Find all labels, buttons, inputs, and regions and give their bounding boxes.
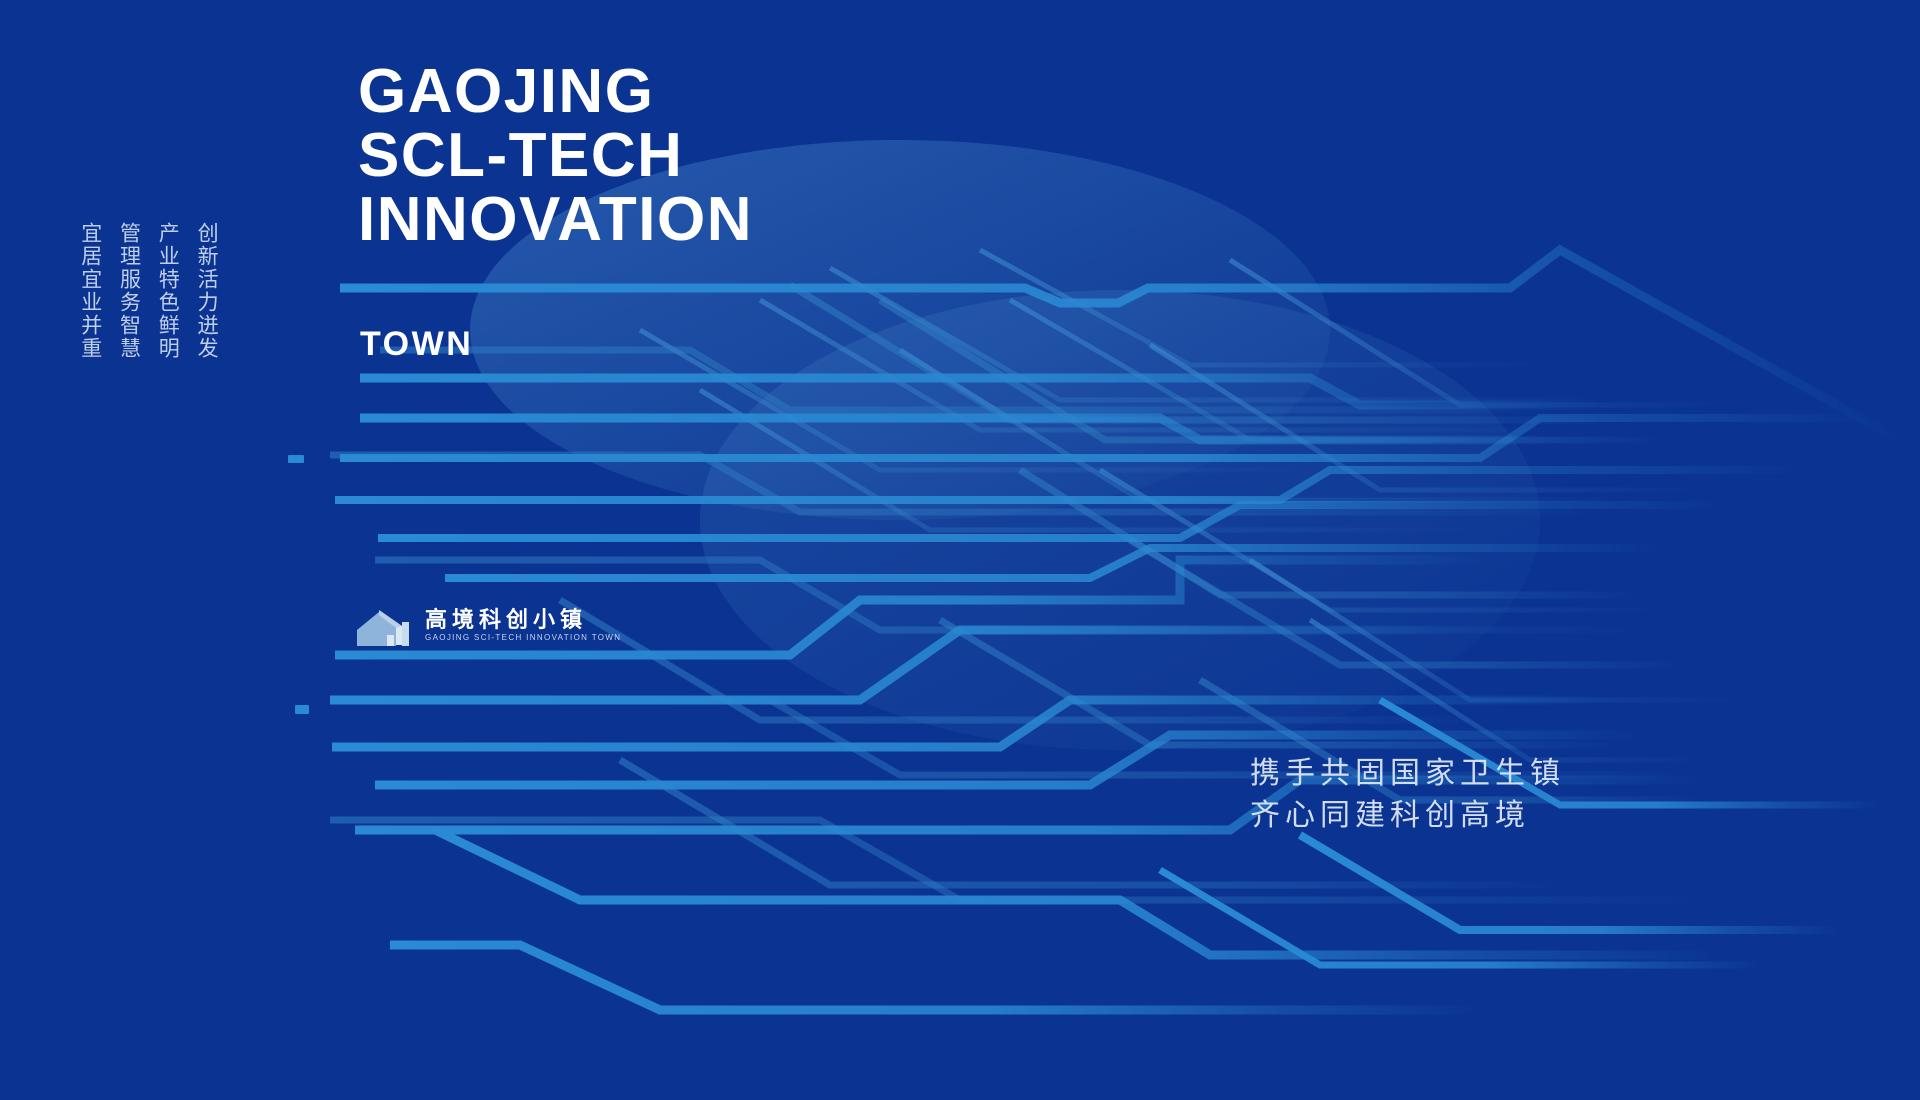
headline-line-3: INNOVATION [358,188,753,252]
vertical-slogan-column-4: 宜居宜业并重 [78,222,103,360]
logo-text-block: 高境科创小镇 GAOJING SCI-TECH INNOVATION TOWN [425,610,621,642]
house-building-icon [355,604,413,648]
circuit-trace-background [0,0,1920,1100]
vertical-slogan-column-3: 管理服务智慧 [117,222,142,360]
poster-canvas: 创新活力迸发 产业特色鲜明 管理服务智慧 宜居宜业并重 GAOJING SCL-… [0,0,1920,1100]
corner-slogan-line-2: 齐心同建科创高境 [1250,795,1565,838]
headline-line-1: GAOJING [358,60,753,124]
vertical-slogan-column-2: 产业特色鲜明 [156,222,181,360]
vertical-slogan-block: 创新活力迸发 产业特色鲜明 管理服务智慧 宜居宜业并重 [78,222,219,360]
headline-town-label: TOWN [360,325,473,364]
corner-slogan-line-1: 携手共固国家卫生镇 [1250,753,1565,796]
logo-chinese-name: 高境科创小镇 [425,610,621,632]
logo-english-name: GAOJING SCI-TECH INNOVATION TOWN [425,634,621,642]
headline-line-2: SCL-TECH [358,124,753,188]
logo-lockup: 高境科创小镇 GAOJING SCI-TECH INNOVATION TOWN [355,604,621,648]
main-headline: GAOJING SCL-TECH INNOVATION [358,60,753,252]
vertical-slogan-column-1: 创新活力迸发 [194,222,219,360]
corner-slogan-block: 携手共固国家卫生镇 齐心同建科创高境 [1250,753,1565,838]
